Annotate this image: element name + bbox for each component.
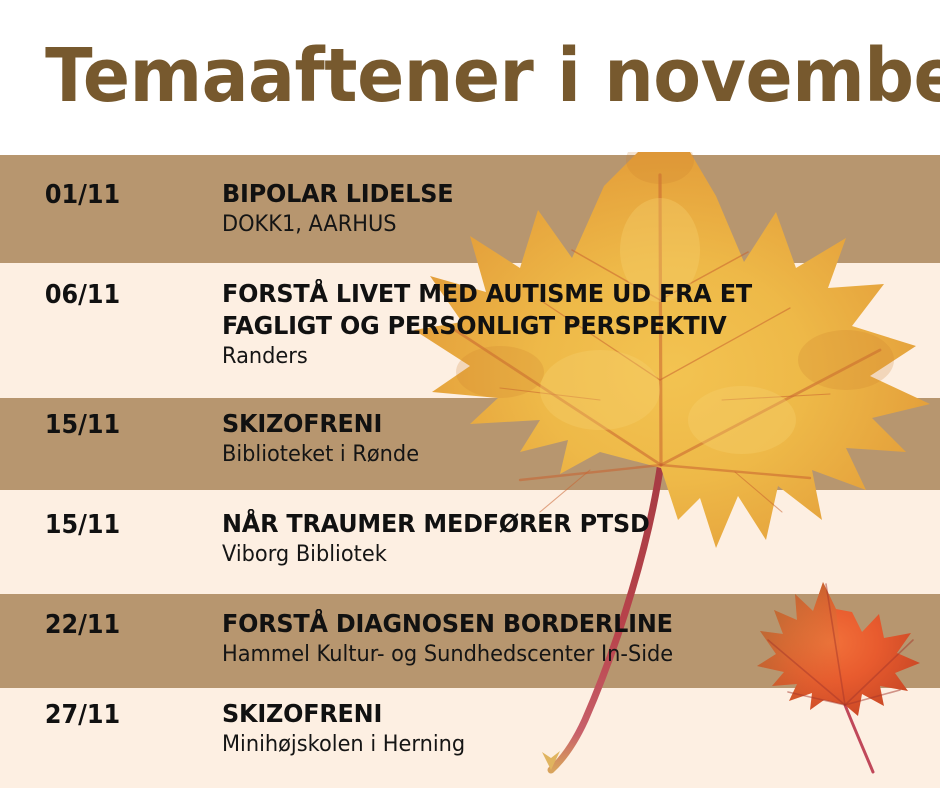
event-venue: DOKK1, AARHUS (222, 211, 904, 240)
event-details: FORSTÅ LIVET MED AUTISME UD FRA ET FAGLI… (165, 278, 940, 372)
event-title: FORSTÅ DIAGNOSEN BORDERLINE (222, 608, 908, 640)
page-title: Temaaftener i november (0, 39, 940, 113)
event-title: NÅR TRAUMER MEDFØRER PTSD (222, 508, 908, 540)
event-venue: Randers (222, 343, 904, 372)
event-details: FORSTÅ DIAGNOSEN BORDERLINE Hammel Kultu… (165, 608, 940, 670)
event-details: BIPOLAR LIDELSE DOKK1, AARHUS (165, 178, 940, 240)
event-title: FORSTÅ LIVET MED AUTISME UD FRA ET FAGLI… (222, 278, 908, 342)
event-date: 06/11 (7, 278, 159, 310)
event-venue: Hammel Kultur- og Sundhedscenter In-Side (222, 641, 904, 670)
event-title: SKIZOFRENI (222, 408, 908, 440)
event-details: SKIZOFRENI Biblioteket i Rønde (165, 408, 940, 470)
event-row[interactable]: 01/11 BIPOLAR LIDELSE DOKK1, AARHUS (0, 178, 940, 240)
event-details: NÅR TRAUMER MEDFØRER PTSD Viborg Bibliot… (165, 508, 940, 570)
event-row[interactable]: 27/11 SKIZOFRENI Minihøjskolen i Herning (0, 698, 940, 760)
event-title: SKIZOFRENI (222, 698, 908, 730)
event-title: BIPOLAR LIDELSE (222, 178, 908, 210)
event-date: 15/11 (7, 508, 159, 540)
event-row[interactable]: 15/11 SKIZOFRENI Biblioteket i Rønde (0, 408, 940, 470)
event-row[interactable]: 22/11 FORSTÅ DIAGNOSEN BORDERLINE Hammel… (0, 608, 940, 670)
event-date: 22/11 (7, 608, 159, 640)
event-row[interactable]: 15/11 NÅR TRAUMER MEDFØRER PTSD Viborg B… (0, 508, 940, 570)
event-venue: Biblioteket i Rønde (222, 441, 904, 470)
event-details: SKIZOFRENI Minihøjskolen i Herning (165, 698, 940, 760)
event-date: 15/11 (7, 408, 159, 440)
event-date: 01/11 (7, 178, 159, 210)
poster-canvas: Temaaftener i november 01/11 BIPOLAR LID… (0, 0, 940, 788)
event-venue: Viborg Bibliotek (222, 541, 904, 570)
event-venue: Minihøjskolen i Herning (222, 731, 904, 760)
event-row[interactable]: 06/11 FORSTÅ LIVET MED AUTISME UD FRA ET… (0, 278, 940, 372)
event-date: 27/11 (7, 698, 159, 730)
title-bar: Temaaftener i november (0, 0, 940, 152)
